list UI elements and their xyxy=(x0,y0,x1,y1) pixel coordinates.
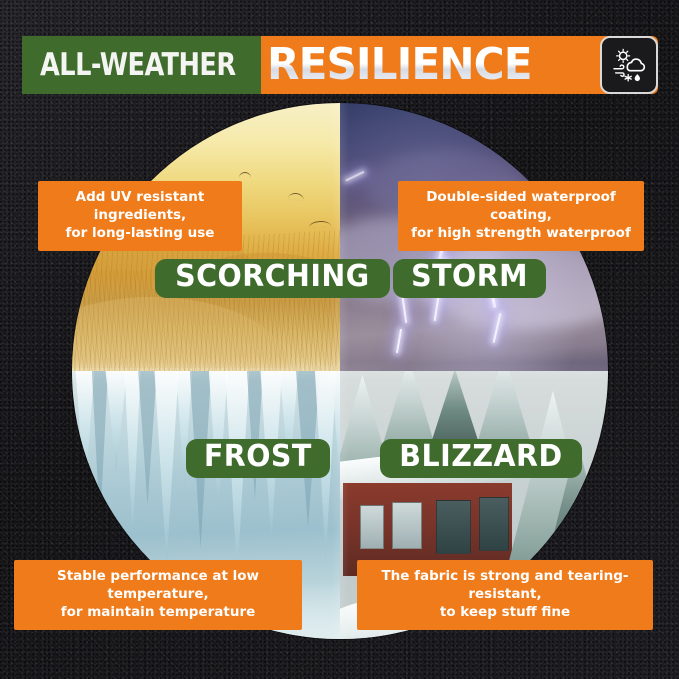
cabin-door xyxy=(436,500,471,554)
icicle xyxy=(92,371,108,527)
header-banner: ALL-WEATHER RESILIENCE xyxy=(22,36,658,94)
label-blizzard: BLIZZARD xyxy=(380,439,582,478)
label-frost-text: FROST xyxy=(204,442,312,473)
icicle xyxy=(138,371,157,505)
cabin-window xyxy=(360,505,384,549)
caption-blizzard: The fabric is strong and tearing-resista… xyxy=(357,560,653,630)
icicle xyxy=(154,371,178,565)
label-storm: STORM xyxy=(393,259,546,298)
header-title-all-weather: ALL-WEATHER xyxy=(40,47,236,83)
bird-silhouette-icon xyxy=(309,220,331,227)
weather-badge xyxy=(600,36,658,94)
label-blizzard-text: BLIZZARD xyxy=(399,442,562,473)
icicle xyxy=(105,371,127,472)
cabin-window xyxy=(479,497,509,551)
lightning-bolt xyxy=(346,171,365,181)
bird-silhouette-icon xyxy=(239,172,251,178)
cabin-window xyxy=(392,502,422,548)
header-title-resilience: RESILIENCE xyxy=(267,43,532,87)
icicle xyxy=(247,371,263,500)
caption-frost: Stable performance at low temperature, f… xyxy=(14,560,302,630)
label-scorching-text: SCORCHING xyxy=(175,262,370,293)
header-green-block: ALL-WEATHER xyxy=(22,36,263,94)
label-scorching: SCORCHING xyxy=(155,259,390,298)
sun-cloud-rain-snow-wind-icon xyxy=(609,45,649,85)
label-storm-text: STORM xyxy=(411,262,528,293)
header-orange-block: RESILIENCE xyxy=(261,36,658,94)
icicle xyxy=(124,371,140,538)
icicle xyxy=(75,371,94,494)
poster-root: SCORCHING STORM FROST BLIZZARD Add UV re… xyxy=(0,0,679,679)
caption-scorching: Add UV resistant ingredients, for long-l… xyxy=(38,181,242,251)
label-frost: FROST xyxy=(186,439,330,478)
caption-storm: Double-sided waterproof coating, for hig… xyxy=(398,181,644,251)
lightning-bolt xyxy=(396,329,402,353)
bird-silhouette-icon xyxy=(287,193,304,202)
